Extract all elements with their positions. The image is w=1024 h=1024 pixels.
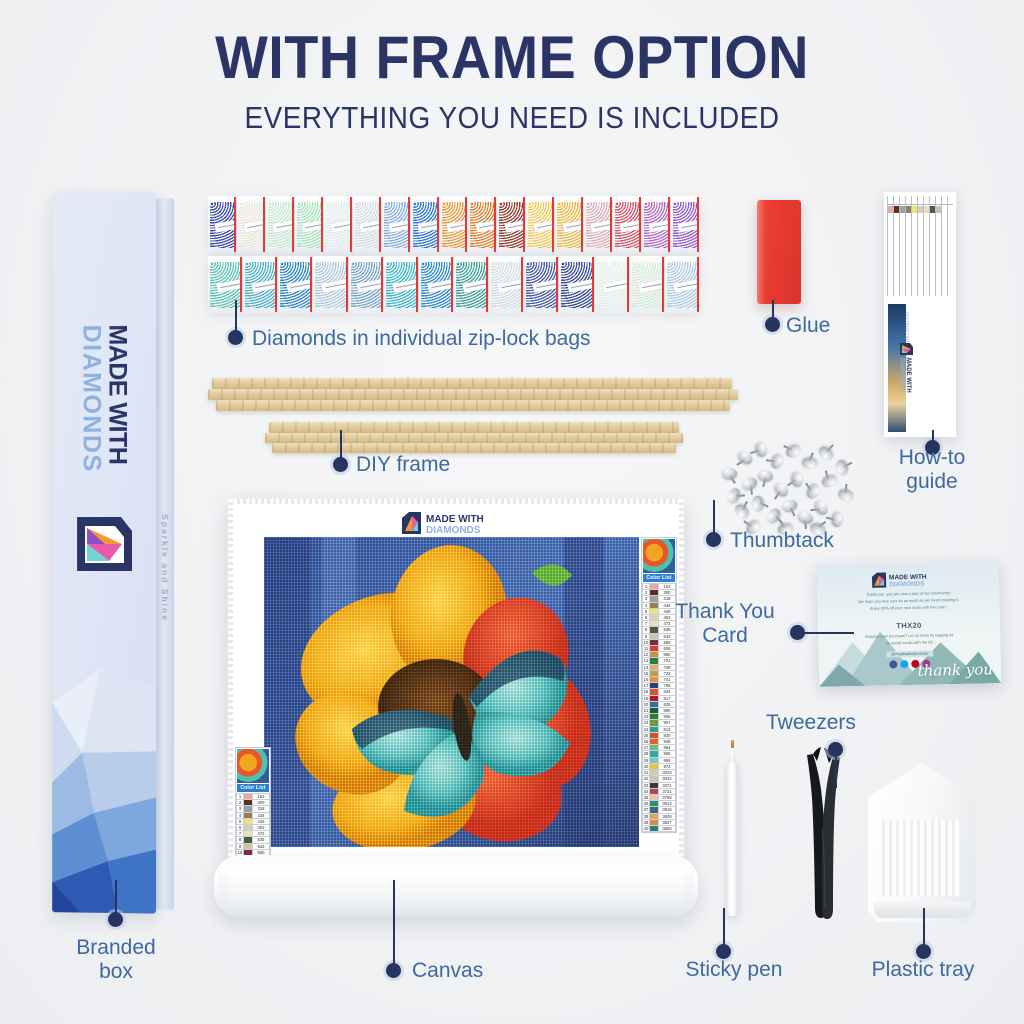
callout-leader-branded-box bbox=[115, 880, 117, 914]
ziplock-bag bbox=[295, 196, 323, 253]
thumbtack-pin bbox=[825, 470, 829, 479]
callout-branded-box-line-1: Branded bbox=[76, 936, 155, 959]
legend-table-left: 1152230033184434544564537472853595431055… bbox=[236, 793, 270, 856]
bag-seal bbox=[416, 257, 418, 312]
guide-swatch bbox=[930, 206, 935, 213]
thumbtack-pin bbox=[774, 491, 780, 499]
ziplock-bag bbox=[353, 196, 381, 253]
bag-seal bbox=[234, 197, 236, 252]
callout-branded-box: Branded box bbox=[48, 936, 184, 983]
ziplock-bag bbox=[411, 196, 439, 253]
box-brand-text: MADE WITH DIAMONDS bbox=[77, 324, 132, 472]
ziplock-bag bbox=[313, 256, 347, 313]
callout-glue: Glue bbox=[786, 314, 830, 338]
callout-thankyou: Thank You Card bbox=[662, 600, 788, 647]
canvas-edge-left bbox=[228, 499, 233, 863]
thumbtack bbox=[813, 498, 830, 517]
frame-bar-6 bbox=[272, 443, 676, 453]
thumbtack-pin bbox=[744, 520, 752, 526]
thumbtack-pin bbox=[736, 459, 744, 465]
callout-leader-thumbtack bbox=[713, 500, 715, 534]
callout-leader-guide bbox=[932, 430, 934, 444]
bag-seal bbox=[346, 257, 348, 312]
ziplock-bag bbox=[208, 196, 236, 253]
callout-thankyou-line-2: Card bbox=[702, 624, 748, 647]
thumbtack-pin bbox=[845, 484, 847, 493]
thumbtack bbox=[722, 468, 737, 479]
card-social-handle: @madewithdiamonds bbox=[886, 651, 933, 658]
bag-seal bbox=[451, 257, 453, 312]
ziplock-bag bbox=[584, 196, 612, 253]
ziplock-bag bbox=[419, 256, 453, 313]
thumbtack-pin bbox=[750, 449, 759, 453]
callout-leader-pen bbox=[723, 908, 725, 946]
bag-seal bbox=[697, 197, 699, 252]
ziplock-bag bbox=[595, 256, 629, 313]
canvas-artwork bbox=[264, 537, 639, 847]
thumbtack bbox=[831, 512, 843, 528]
callout-tray: Plastic tray bbox=[853, 958, 993, 982]
thumbtack-pile bbox=[716, 440, 856, 532]
svg-text:DIAMONDS: DIAMONDS bbox=[899, 358, 905, 391]
legend-thumbnail-left bbox=[237, 749, 269, 783]
ziplock-bag bbox=[454, 256, 488, 313]
thumbtack bbox=[784, 443, 803, 460]
ziplock-bag bbox=[266, 196, 294, 253]
thumbtack-pin bbox=[762, 478, 766, 487]
thumbtack-pin bbox=[804, 520, 806, 529]
guide-swatch bbox=[936, 206, 941, 213]
bag-seal bbox=[465, 197, 467, 252]
ziplock-bag bbox=[278, 256, 312, 313]
diamond-painting-canvas: MADE WITH DIAMONDS bbox=[228, 499, 684, 863]
callout-dot-thumbtack bbox=[706, 532, 721, 547]
color-list-left: Color List 11522300331844345445645374728… bbox=[235, 747, 271, 857]
legend-title-right: Color List bbox=[643, 574, 675, 582]
canvas-edge-top bbox=[228, 499, 684, 504]
callout-leader-frame bbox=[340, 430, 342, 460]
ziplock-bag bbox=[559, 256, 593, 313]
thumbtack-pin bbox=[750, 486, 752, 495]
ziplock-bag bbox=[497, 196, 525, 253]
bag-seal bbox=[697, 257, 699, 312]
bag-seal bbox=[263, 197, 265, 252]
thumbtack-pin bbox=[810, 508, 819, 510]
bag-seal bbox=[552, 197, 554, 252]
ziplock-bag bbox=[489, 256, 523, 313]
callout-dot-branded-box bbox=[108, 912, 123, 927]
bag-seal bbox=[240, 257, 242, 312]
callout-leader-canvas bbox=[393, 880, 395, 966]
thumbtack bbox=[791, 471, 804, 487]
thank-you-card: MADE WITH DIAMONDS Thank you, you are no… bbox=[817, 561, 1002, 687]
ziplock-bag bbox=[555, 196, 583, 253]
svg-text:DIAMONDS: DIAMONDS bbox=[426, 525, 481, 536]
callout-leader-glue bbox=[772, 300, 774, 320]
thumbtack bbox=[797, 510, 815, 525]
callout-guide-line-2: guide bbox=[906, 470, 957, 493]
thumbtack-pin bbox=[766, 459, 775, 461]
callout-dot-bags bbox=[228, 330, 243, 345]
guide-swatch bbox=[918, 206, 923, 213]
guide-swatch bbox=[924, 206, 929, 213]
bag-seal bbox=[581, 197, 583, 252]
bag-seal bbox=[321, 197, 323, 252]
thumbtack-pin bbox=[736, 495, 745, 497]
card-body-line-3: Enjoy 20% off your next order with the c… bbox=[870, 604, 947, 611]
ziplock-bag bbox=[237, 196, 265, 253]
pen-barrel bbox=[727, 762, 738, 916]
callout-guide-line-1: How-to bbox=[899, 446, 966, 469]
ziplock-bag bbox=[440, 196, 468, 253]
thumbtack bbox=[781, 498, 799, 513]
thumbtack-pin bbox=[809, 453, 814, 462]
thumbtack bbox=[740, 475, 758, 492]
thumbtack-pin bbox=[729, 475, 735, 483]
bag-seal bbox=[521, 257, 523, 312]
ziplock-bag bbox=[613, 196, 641, 253]
twitter-icon bbox=[900, 660, 908, 668]
ziplock-bag bbox=[324, 196, 352, 253]
brand-line-1: MADE WITH bbox=[103, 324, 132, 472]
thumbtack bbox=[837, 488, 854, 503]
bag-seal bbox=[486, 257, 488, 312]
ziplock-bag bbox=[665, 256, 699, 313]
legend-code: 3850 bbox=[659, 825, 676, 831]
tweezers bbox=[800, 742, 846, 922]
thumbtack bbox=[820, 474, 838, 490]
callout-canvas: Canvas bbox=[412, 959, 483, 983]
callout-leader-bags bbox=[235, 300, 237, 332]
thumbtack-pin bbox=[806, 482, 812, 490]
ziplock-bag bbox=[208, 256, 242, 313]
low-poly-pattern bbox=[52, 583, 156, 914]
guide-swatch bbox=[912, 206, 917, 213]
brand-line-2: DIAMONDS bbox=[77, 325, 106, 473]
ziplock-bag bbox=[526, 196, 554, 253]
ziplock-bag bbox=[524, 256, 558, 313]
frame-bar-3 bbox=[216, 400, 730, 411]
card-body-line-2: We hope you love your kit as much as we … bbox=[858, 597, 959, 604]
bag-seal bbox=[662, 257, 664, 312]
thumbtack-pin bbox=[784, 445, 793, 450]
frame-bar-4 bbox=[269, 422, 679, 433]
ziplock-bag bbox=[243, 256, 277, 313]
ziplock-bag bbox=[671, 196, 699, 253]
thumbtack bbox=[805, 482, 822, 501]
bag-seal bbox=[556, 257, 558, 312]
box-front-panel: MADE WITH DIAMONDS bbox=[52, 192, 156, 913]
callout-tweezers: Tweezers bbox=[766, 711, 856, 735]
ziplock-bag bbox=[468, 196, 496, 253]
glue-bottle bbox=[757, 200, 801, 304]
bag-seal bbox=[408, 197, 410, 252]
callout-leader-tray bbox=[923, 908, 925, 946]
legend-title-left: Color List bbox=[237, 784, 269, 792]
callout-dot-tray bbox=[916, 944, 931, 959]
box-side-panel: Sparkle and Shine bbox=[156, 198, 174, 910]
ziplock-bag bbox=[349, 256, 383, 313]
diamond-logo-icon bbox=[73, 513, 135, 575]
how-to-guide: INSTRUCTIONS GUIDE 5D MADE WITH DIAMONDS bbox=[884, 192, 956, 437]
facebook-icon bbox=[889, 660, 897, 668]
frame-bar-2 bbox=[208, 389, 738, 400]
thumbtack-pin bbox=[827, 445, 834, 452]
canvas-edge-right bbox=[679, 499, 684, 863]
callout-thumbtack: Thumbtack bbox=[730, 529, 834, 553]
callout-branded-box-line-2: box bbox=[99, 960, 133, 983]
ziplock-bag-row-top bbox=[208, 196, 700, 253]
thumbtack-pin bbox=[743, 502, 748, 511]
bag-seal bbox=[639, 197, 641, 252]
ziplock-bag-row-bottom bbox=[208, 256, 700, 313]
guide-swatch bbox=[894, 206, 899, 213]
box-tagline: Sparkle and Shine bbox=[160, 514, 170, 622]
legend-swatch bbox=[650, 825, 659, 831]
plastic-tray bbox=[868, 762, 976, 922]
callout-frame: DIY frame bbox=[356, 453, 450, 477]
bag-seal bbox=[610, 197, 612, 252]
card-body2-line-2: on social media with the kit! bbox=[886, 639, 934, 645]
thumbtack-pin bbox=[826, 516, 835, 520]
tray-ribs bbox=[882, 820, 962, 896]
diamond-grid-overlay bbox=[264, 537, 639, 847]
guide-swatch bbox=[888, 206, 893, 213]
canvas-rolled-edge bbox=[214, 855, 698, 917]
color-list-right: Color List 11522300331844345445645374728… bbox=[641, 537, 677, 833]
card-body-text: Thank you, you are now a part of our com… bbox=[827, 589, 989, 613]
callout-leader-thankyou bbox=[802, 632, 854, 634]
thumbtack bbox=[835, 459, 849, 476]
thumbtack bbox=[752, 496, 763, 511]
guide-table-column bbox=[947, 196, 954, 296]
bag-seal bbox=[523, 197, 525, 252]
thumbtack-pin bbox=[789, 507, 794, 516]
card-body2-line-1: Enjoyed your purchase? Let us know by ta… bbox=[865, 632, 953, 639]
ziplock-bag bbox=[382, 196, 410, 253]
ziplock-bag bbox=[642, 196, 670, 253]
thumbtack-pin bbox=[760, 503, 769, 508]
thumbtack-pin bbox=[844, 463, 853, 468]
guide-color-table bbox=[887, 196, 953, 296]
callout-bags: Diamonds in individual zip-lock bags bbox=[252, 327, 591, 351]
bag-seal bbox=[437, 197, 439, 252]
branded-box: Sparkle and Shine MADE WITH DIAMONDS bbox=[52, 192, 174, 914]
callout-thankyou-line-1: Thank You bbox=[675, 600, 774, 623]
bag-seal bbox=[379, 197, 381, 252]
page-subtitle: EVERYTHING YOU NEED IS INCLUDED bbox=[51, 100, 973, 136]
callout-leader-tweezers bbox=[835, 750, 837, 788]
ziplock-bag bbox=[384, 256, 418, 313]
bag-seal bbox=[627, 257, 629, 312]
thumbtack bbox=[802, 457, 818, 469]
frame-bar-1 bbox=[212, 378, 732, 389]
svg-text:MADE WITH: MADE WITH bbox=[905, 358, 911, 393]
callout-guide: How-to guide bbox=[862, 446, 1002, 493]
legend-thumbnail-right bbox=[643, 539, 675, 573]
bag-seal bbox=[381, 257, 383, 312]
svg-text:MADE WITH: MADE WITH bbox=[426, 514, 484, 525]
guide-logo: MADE WITH DIAMONDS bbox=[894, 342, 914, 394]
guide-swatch bbox=[900, 206, 905, 213]
bag-seal bbox=[310, 257, 312, 312]
callout-pen: Sticky pen bbox=[664, 958, 804, 982]
svg-text:DIAMONDS: DIAMONDS bbox=[889, 581, 925, 589]
legend-index: 40 bbox=[643, 825, 650, 831]
bag-seal bbox=[494, 197, 496, 252]
bag-seal bbox=[668, 197, 670, 252]
guide-swatch bbox=[906, 206, 911, 213]
tray-lip bbox=[874, 902, 970, 918]
bag-seal bbox=[592, 257, 594, 312]
thumbtack bbox=[733, 502, 751, 521]
thumbtack-pin bbox=[787, 479, 795, 485]
bag-seal bbox=[275, 257, 277, 312]
card-body-line-1: Thank you, you are now a part of our com… bbox=[866, 590, 951, 597]
thumbtack-pin bbox=[818, 522, 826, 528]
legend-row: 403850 bbox=[643, 825, 676, 831]
card-thank-you-script: thank you bbox=[918, 663, 994, 678]
thumbtack bbox=[725, 486, 741, 504]
thumbtack bbox=[757, 469, 774, 482]
thumbtack-pin bbox=[779, 519, 785, 527]
bag-seal bbox=[350, 197, 352, 252]
ziplock-bag bbox=[630, 256, 664, 313]
thumbtack bbox=[754, 441, 769, 458]
thumbtack bbox=[770, 453, 786, 471]
sticky-pen bbox=[726, 738, 739, 916]
frame-bar-5 bbox=[265, 433, 683, 443]
page-title: WITH FRAME OPTION bbox=[36, 28, 988, 88]
bag-seal bbox=[292, 197, 294, 252]
callout-dot-pen bbox=[716, 944, 731, 959]
thumbtack bbox=[816, 444, 835, 462]
infographic-canvas: WITH FRAME OPTION EVERYTHING YOU NEED IS… bbox=[0, 0, 1024, 1024]
